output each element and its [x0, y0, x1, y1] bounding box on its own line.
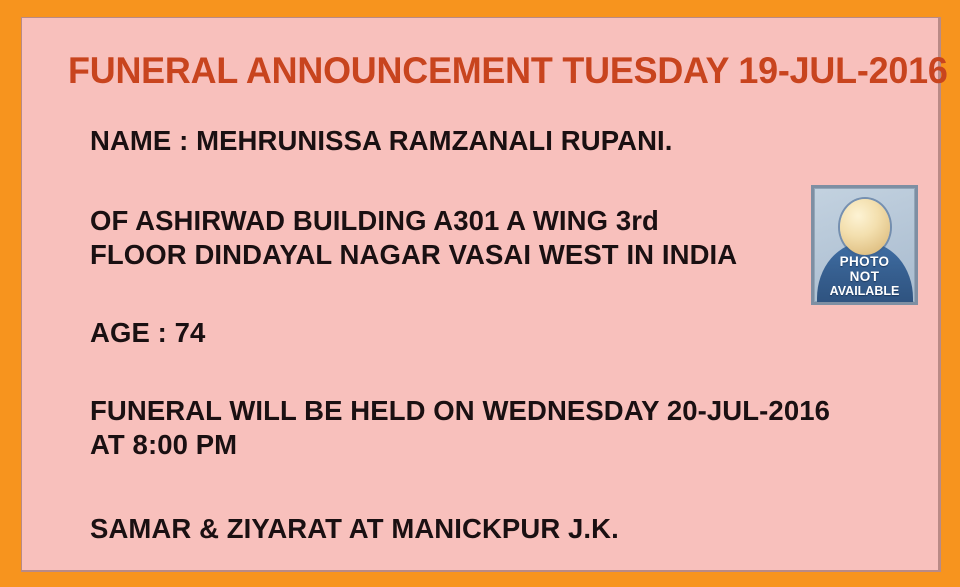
age-line: AGE : 74: [90, 316, 790, 350]
age-field: AGE : 74: [90, 316, 790, 350]
name-line: NAME : MEHRUNISSA RAMZANALI RUPANI.: [90, 124, 790, 158]
address-line-1: OF ASHIRWAD BUILDING A301 A WING 3rd: [90, 204, 790, 238]
announcement-panel: FUNERAL ANNOUNCEMENT TUESDAY 19-JUL-2016…: [22, 18, 938, 570]
photo-placeholder-text: PHOTO NOT AVAILABLE: [814, 254, 915, 299]
funeral-schedule-field: FUNERAL WILL BE HELD ON WEDNESDAY 20-JUL…: [90, 394, 790, 462]
page-title: FUNERAL ANNOUNCEMENT TUESDAY 19-JUL-2016: [68, 52, 912, 89]
announcement-details: NAME : MEHRUNISSA RAMZANALI RUPANI. OF A…: [90, 118, 790, 546]
photo-placeholder-line-1: PHOTO: [814, 254, 915, 269]
name-field: NAME : MEHRUNISSA RAMZANALI RUPANI.: [90, 124, 790, 158]
avatar-head-icon: [840, 199, 890, 255]
photo-placeholder-line-2: NOT: [814, 269, 915, 284]
address-field: OF ASHIRWAD BUILDING A301 A WING 3rd FLO…: [90, 204, 790, 272]
address-line-2: FLOOR DINDAYAL NAGAR VASAI WEST IN INDIA: [90, 238, 790, 272]
photo-not-available-placeholder: PHOTO NOT AVAILABLE: [811, 185, 918, 305]
funeral-line-2: AT 8:00 PM: [90, 428, 790, 462]
funeral-announcement-poster: FUNERAL ANNOUNCEMENT TUESDAY 19-JUL-2016…: [0, 0, 960, 587]
photo-inner-frame: PHOTO NOT AVAILABLE: [814, 188, 915, 302]
funeral-line-1: FUNERAL WILL BE HELD ON WEDNESDAY 20-JUL…: [90, 394, 790, 428]
samar-ziyarat-field: SAMAR & ZIYARAT AT MANICKPUR J.K.: [90, 512, 790, 546]
photo-placeholder-line-3: AVAILABLE: [814, 284, 915, 299]
samar-line: SAMAR & ZIYARAT AT MANICKPUR J.K.: [90, 512, 790, 546]
